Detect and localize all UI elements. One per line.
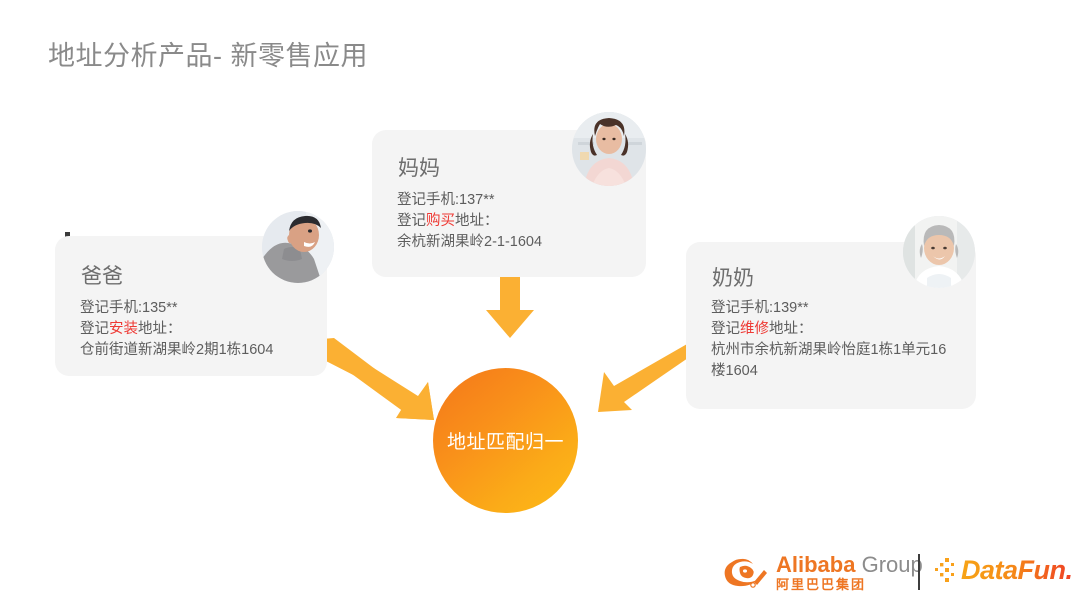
person-name-grandma: 奶奶 [712,262,754,292]
address-type-suffix: 地址： [769,321,813,337]
avatar-mom [572,112,646,186]
person-name-dad: 爸爸 [81,260,123,290]
datafun-dots-icon [934,556,960,584]
slide-canvas: 地址分析产品- 新零售应用 地址匹配归一 爸爸 登记手机:135** 登记安装地… [0,0,1080,608]
alibaba-mark-icon [722,552,774,592]
alibaba-group-word: Group [862,552,923,577]
person-details-dad: 登记手机:135** 登记安装地址： 仓前街道新湖果岭2期1栋1604 [80,298,330,361]
person-details-mom: 登记手机:137** 登记购买地址： 余杭新湖果岭2-1-1604 [397,190,647,253]
datafun-logo: DataFun. [934,556,1073,584]
footer-logos: Alibaba Group 阿里巴巴集团 DataFun. [722,552,1072,598]
alibaba-wordmark: Alibaba Group 阿里巴巴集团 [776,554,923,592]
avatar-grandma-photo [903,216,975,288]
alibaba-english-name: Alibaba Group [776,554,923,576]
person-address-mom: 余杭新湖果岭2-1-1604 [397,232,647,253]
avatar-grandma [903,216,975,288]
person-phone-mom: 登记手机:137** [397,190,647,211]
center-node-address-match: 地址匹配归一 [433,368,578,513]
address-type-suffix: 地址： [138,321,182,337]
address-type-prefix: 登记 [711,321,740,337]
person-address-dad: 仓前街道新湖果岭2期1栋1604 [80,340,330,361]
address-type-prefix: 登记 [397,213,426,229]
center-node-label: 地址匹配归一 [447,427,564,454]
alibaba-brand: Alibaba [776,552,855,577]
page-title: 地址分析产品- 新零售应用 [48,34,368,73]
person-address-type-mom: 登记购买地址： [397,211,647,232]
address-type-keyword: 安装 [109,321,138,337]
address-type-suffix: 地址： [455,213,499,229]
person-address-type-dad: 登记安装地址： [80,319,330,340]
person-name-mom: 妈妈 [398,152,440,182]
avatar-mom-photo [572,112,646,186]
address-type-keyword: 维修 [740,321,769,337]
person-address-type-grandma: 登记维修地址： [711,319,955,340]
avatar-dad [262,211,334,283]
address-type-prefix: 登记 [80,321,109,337]
person-phone-dad: 登记手机:135** [80,298,330,319]
avatar-dad-photo [262,211,334,283]
address-type-keyword: 购买 [426,213,455,229]
logo-divider [918,554,920,590]
alibaba-logo: Alibaba Group 阿里巴巴集团 [722,552,923,592]
alibaba-chinese-name: 阿里巴巴集团 [776,577,923,592]
person-address-grandma: 杭州市余杭新湖果岭怡庭1栋1单元16楼1604 [711,340,955,382]
datafun-wordmark: DataFun. [961,556,1073,584]
arrow-mom-to-center [480,272,540,342]
person-details-grandma: 登记手机:139** 登记维修地址： 杭州市余杭新湖果岭怡庭1栋1单元16楼16… [711,298,955,382]
person-phone-grandma: 登记手机:139** [711,298,955,319]
